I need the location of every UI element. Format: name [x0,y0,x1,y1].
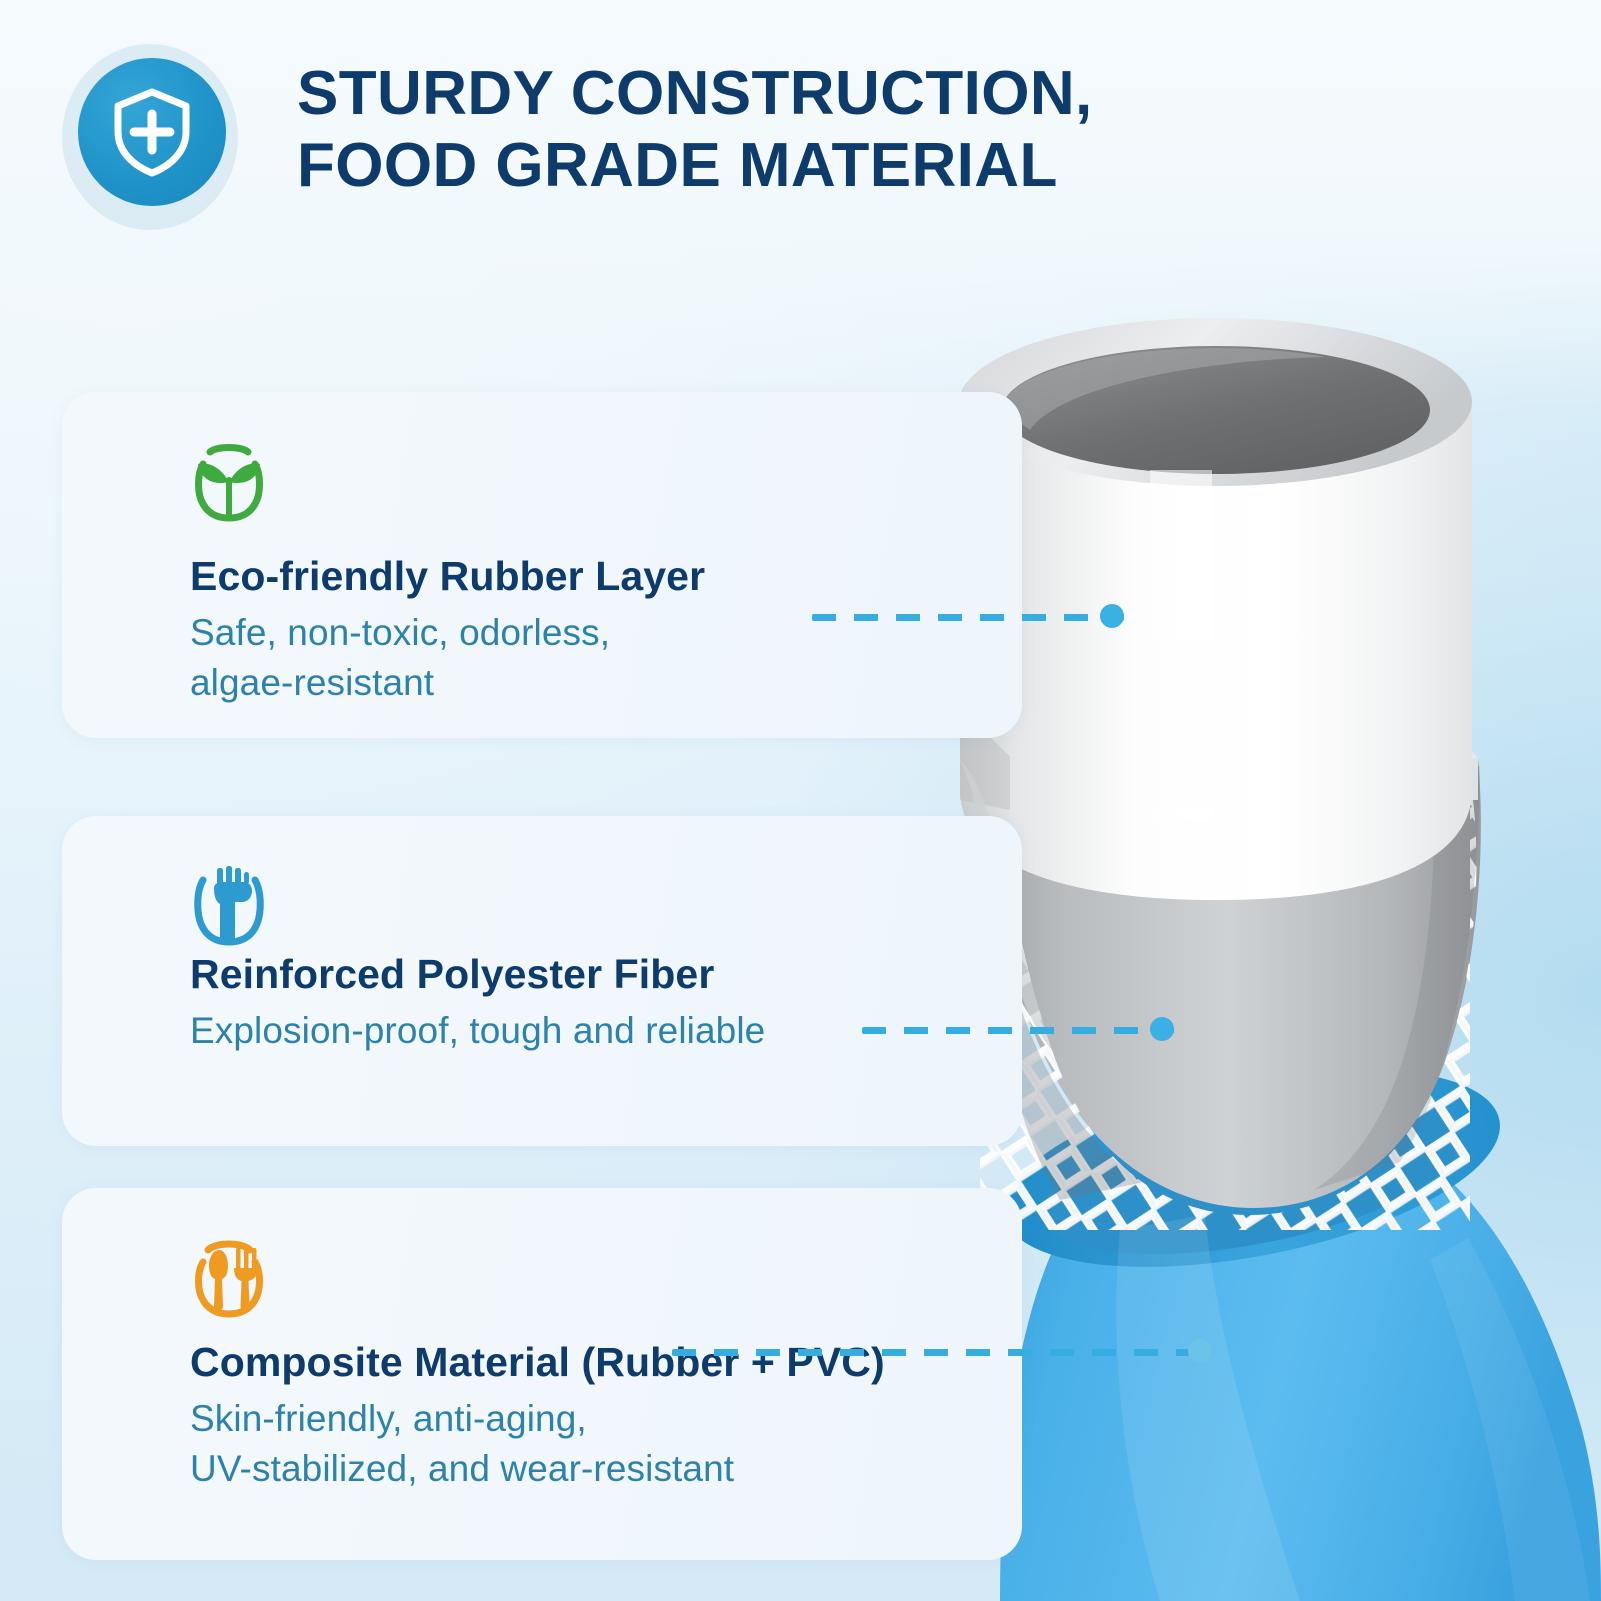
feature-card-1-description: Safe, non-toxic, odorless, algae-resista… [190,608,705,708]
feature-card-eco-friendly-rubber-layer: Eco-friendly Rubber Layer Safe, non-toxi… [62,392,1022,738]
connector-to-polyester-braid [862,1024,1174,1034]
feature-card-composite-material: Composite Material (Rubber + PVC) Skin-f… [62,1188,1022,1560]
feature-card-2-text: Reinforced Polyester Fiber Explosion-pro… [190,948,765,1056]
feature-card-3-title: Composite Material (Rubber + PVC) [190,1336,885,1388]
food-safe-cutlery-icon [190,1232,268,1318]
feature-card-3-description: Skin-friendly, anti-aging, UV-stabilized… [190,1394,885,1494]
connector-2-dashed-line [862,1027,1174,1034]
connector-to-inner-rubber-layer [812,611,1124,621]
title-line-1: STURDY CONSTRUCTION, [297,58,1307,130]
connector-3-dashed-line [672,1349,1212,1356]
connector-1-dashed-line [812,614,1124,621]
connector-2-endpoint-dot [1150,1017,1174,1041]
page-title: STURDY CONSTRUCTION, FOOD GRADE MATERIAL [297,58,1307,202]
header: STURDY CONSTRUCTION, FOOD GRADE MATERIAL [62,36,1322,236]
title-line-2: FOOD GRADE MATERIAL [297,130,1307,202]
feature-card-1-text: Eco-friendly Rubber Layer Safe, non-toxi… [190,550,705,708]
feature-card-3-text: Composite Material (Rubber + PVC) Skin-f… [190,1336,885,1494]
feature-card-1-title: Eco-friendly Rubber Layer [190,550,705,602]
feature-card-reinforced-polyester-fiber: Reinforced Polyester Fiber Explosion-pro… [62,816,1022,1146]
eco-sprout-icon [190,436,268,522]
connector-1-endpoint-dot [1100,604,1124,628]
strong-fist-icon [190,860,268,946]
shield-plus-icon [106,86,198,178]
feature-card-2-description: Explosion-proof, tough and reliable [190,1006,765,1056]
feature-card-2-title: Reinforced Polyester Fiber [190,948,765,1000]
connector-to-outer-pvc-jacket [672,1346,1212,1356]
connector-3-endpoint-dot [1188,1339,1212,1363]
shield-plus-badge [78,58,226,206]
